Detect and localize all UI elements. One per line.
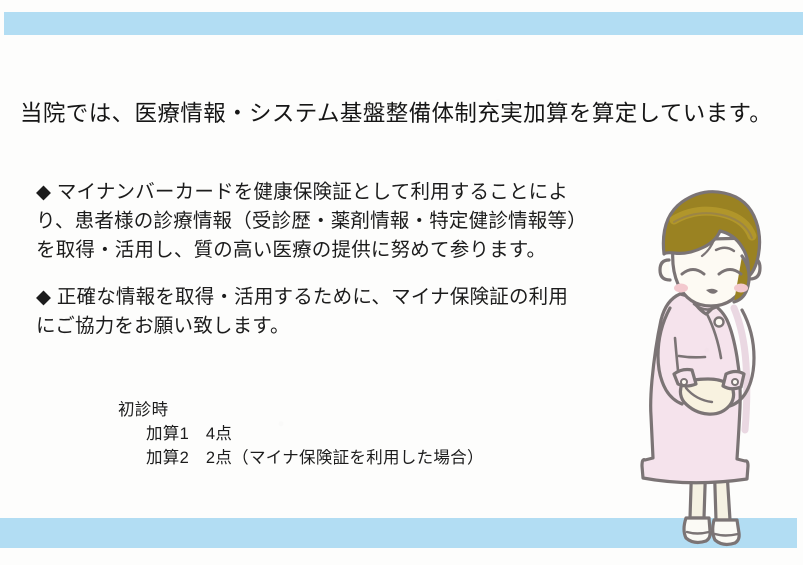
fee-section-title: 初診時 xyxy=(118,398,484,422)
fee-table: 初診時 加算1 4点 加算2 2点（マイナ保険証を利用した場合） xyxy=(118,398,484,470)
paragraph-mynumber-card: ◆ マイナンバーカードを健康保険証として利用することによ り、患者様の診療情報（… xyxy=(36,178,626,265)
fee-row: 加算1 4点 xyxy=(118,422,484,446)
paragraph-line: ◆ マイナンバーカードを健康保険証として利用することによ xyxy=(36,178,626,207)
top-decorative-band xyxy=(4,12,803,35)
fee-row: 加算2 2点（マイナ保険証を利用した場合） xyxy=(118,446,484,470)
notice-page: 当院では、医療情報・システム基盤整備体制充実加算を算定しています。 ◆ マイナン… xyxy=(0,0,803,565)
paragraph-line: ◆ 正確な情報を取得・活用するために、マイナ保険証の利用 xyxy=(36,283,626,312)
paragraph-line: にご協力をお願い致します。 xyxy=(36,312,626,341)
page-title: 当院では、医療情報・システム基盤整備体制充実加算を算定しています。 xyxy=(20,96,772,128)
bowing-woman-illustration xyxy=(630,188,795,560)
paragraph-line: り、患者様の診療情報（受診歴・薬剤情報・特定健診情報等） xyxy=(36,207,626,236)
paragraph-line: を取得・活用し、質の高い医療の提供に努めて参ります。 xyxy=(36,236,626,265)
paragraph-cooperation-request: ◆ 正確な情報を取得・活用するために、マイナ保険証の利用 にご協力をお願い致しま… xyxy=(36,283,626,341)
